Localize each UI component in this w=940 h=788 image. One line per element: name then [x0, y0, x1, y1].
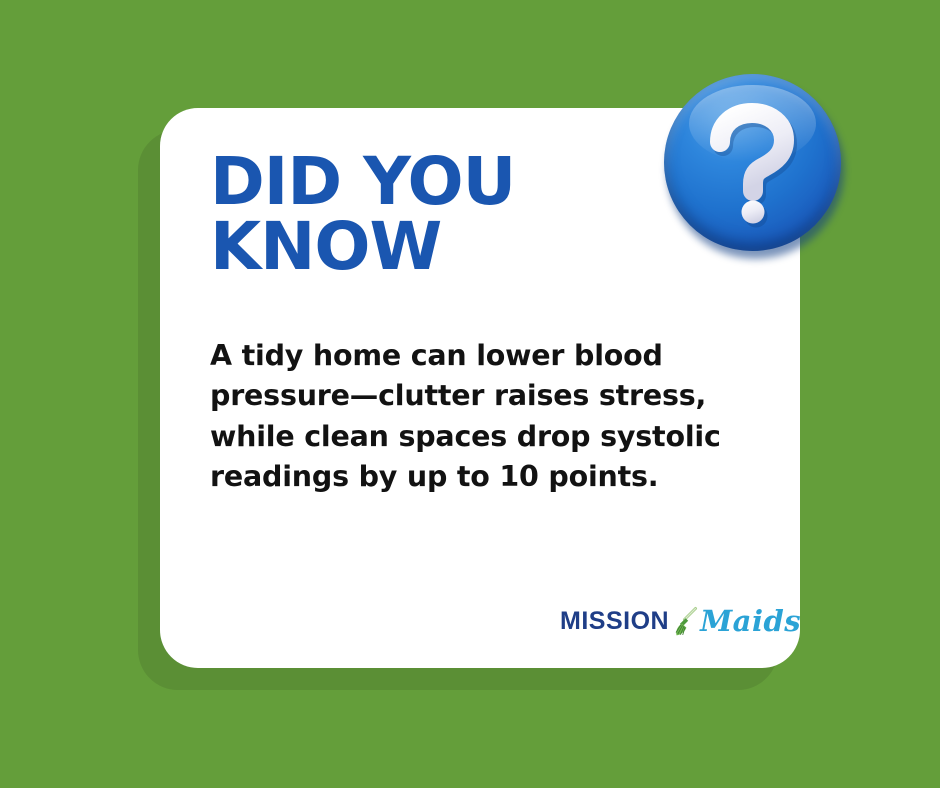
brand-logo: MISSION: [560, 598, 770, 644]
page-title: DID YOU KNOW: [210, 150, 690, 279]
poster-canvas: DID YOU KNOW A tidy home can lower blood…: [0, 0, 940, 788]
logo-wordmark-maids: Maids: [700, 604, 801, 638]
badge-circle: [664, 74, 841, 251]
question-mark-icon: [664, 74, 841, 251]
fact-body-text: A tidy home can lower blood pressure—clu…: [210, 336, 790, 498]
question-mark-badge: [663, 73, 843, 253]
logo-wordmark-mission: MISSION: [560, 607, 669, 636]
broom-icon: [671, 605, 701, 637]
